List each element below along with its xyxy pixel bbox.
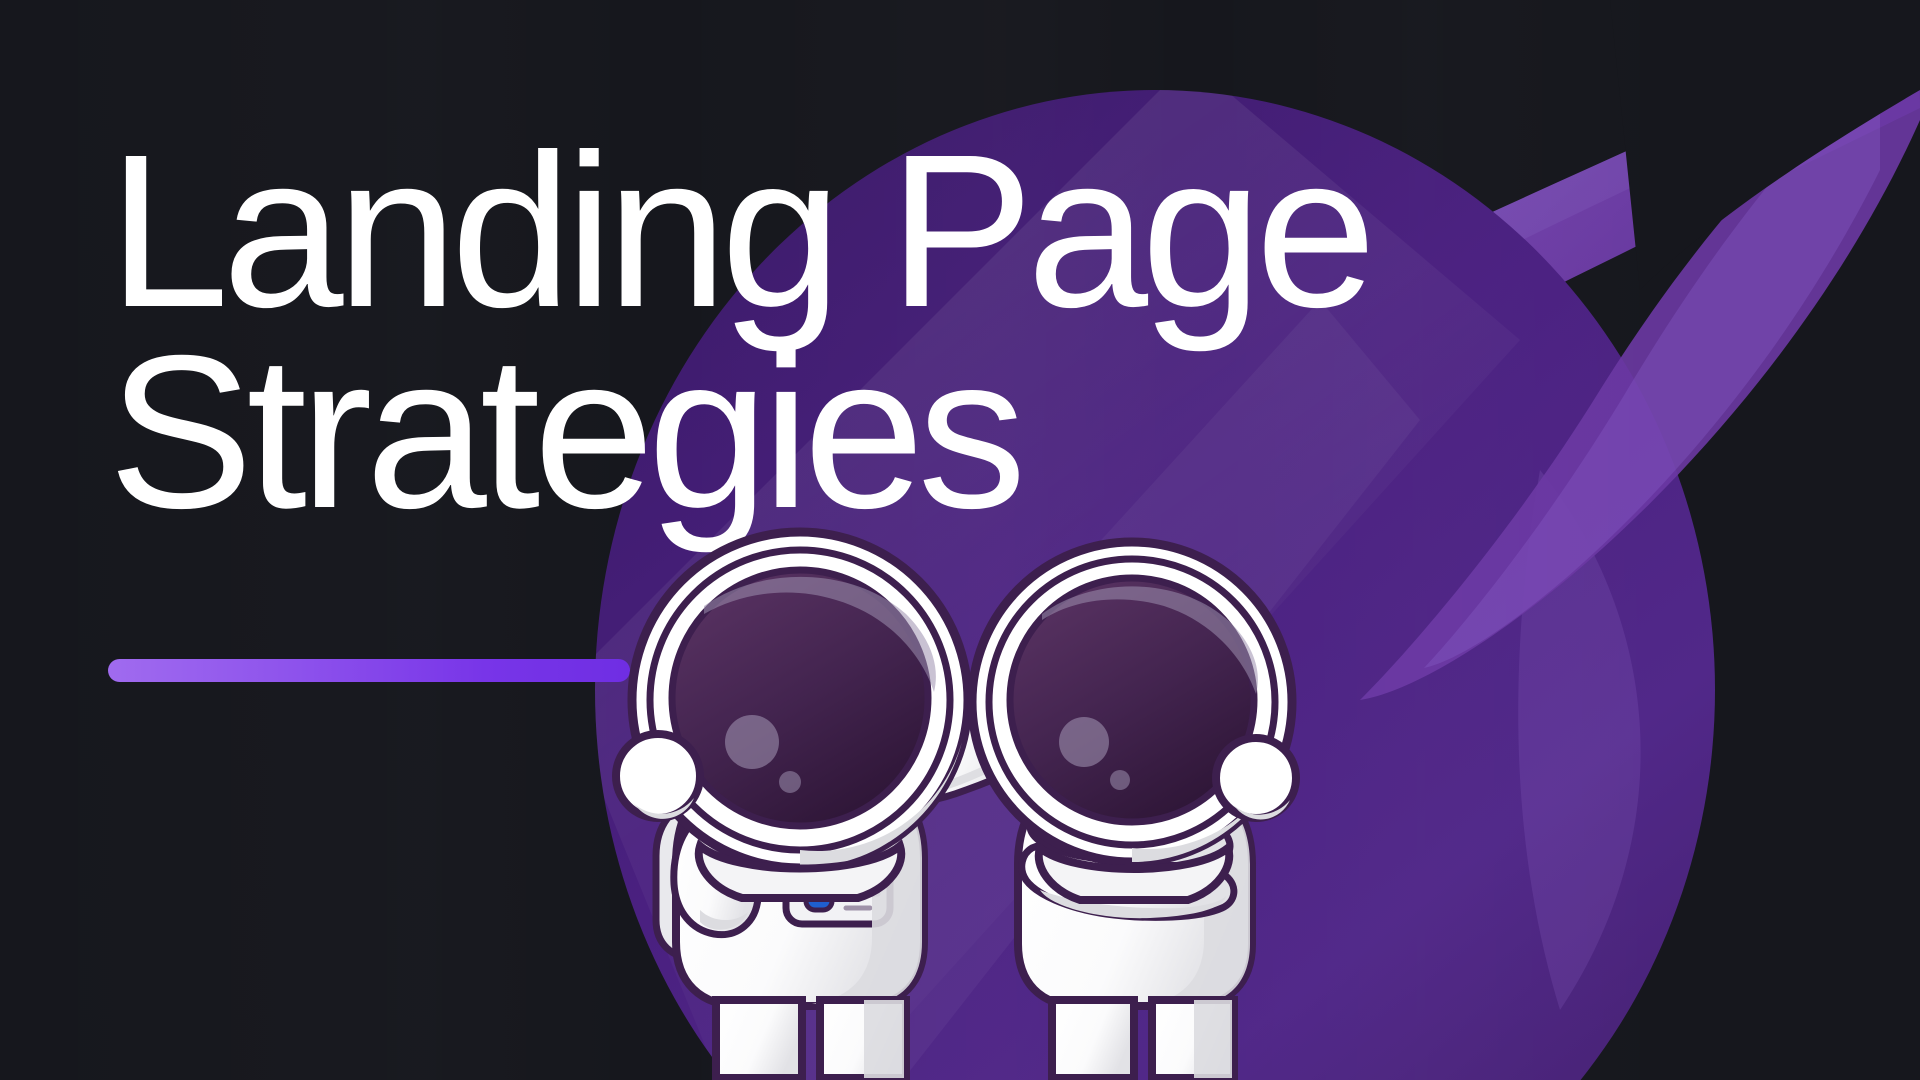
headline-line-2: Strategies	[108, 333, 1748, 534]
headline-line-1: Landing Page	[108, 132, 1748, 333]
page-title: Landing PageStrategies	[108, 132, 1748, 533]
headline-block: Landing PageStrategies	[108, 132, 1748, 533]
slide-canvas: Landing PageStrategies	[0, 0, 1920, 1080]
accent-underline-bar	[108, 659, 630, 682]
